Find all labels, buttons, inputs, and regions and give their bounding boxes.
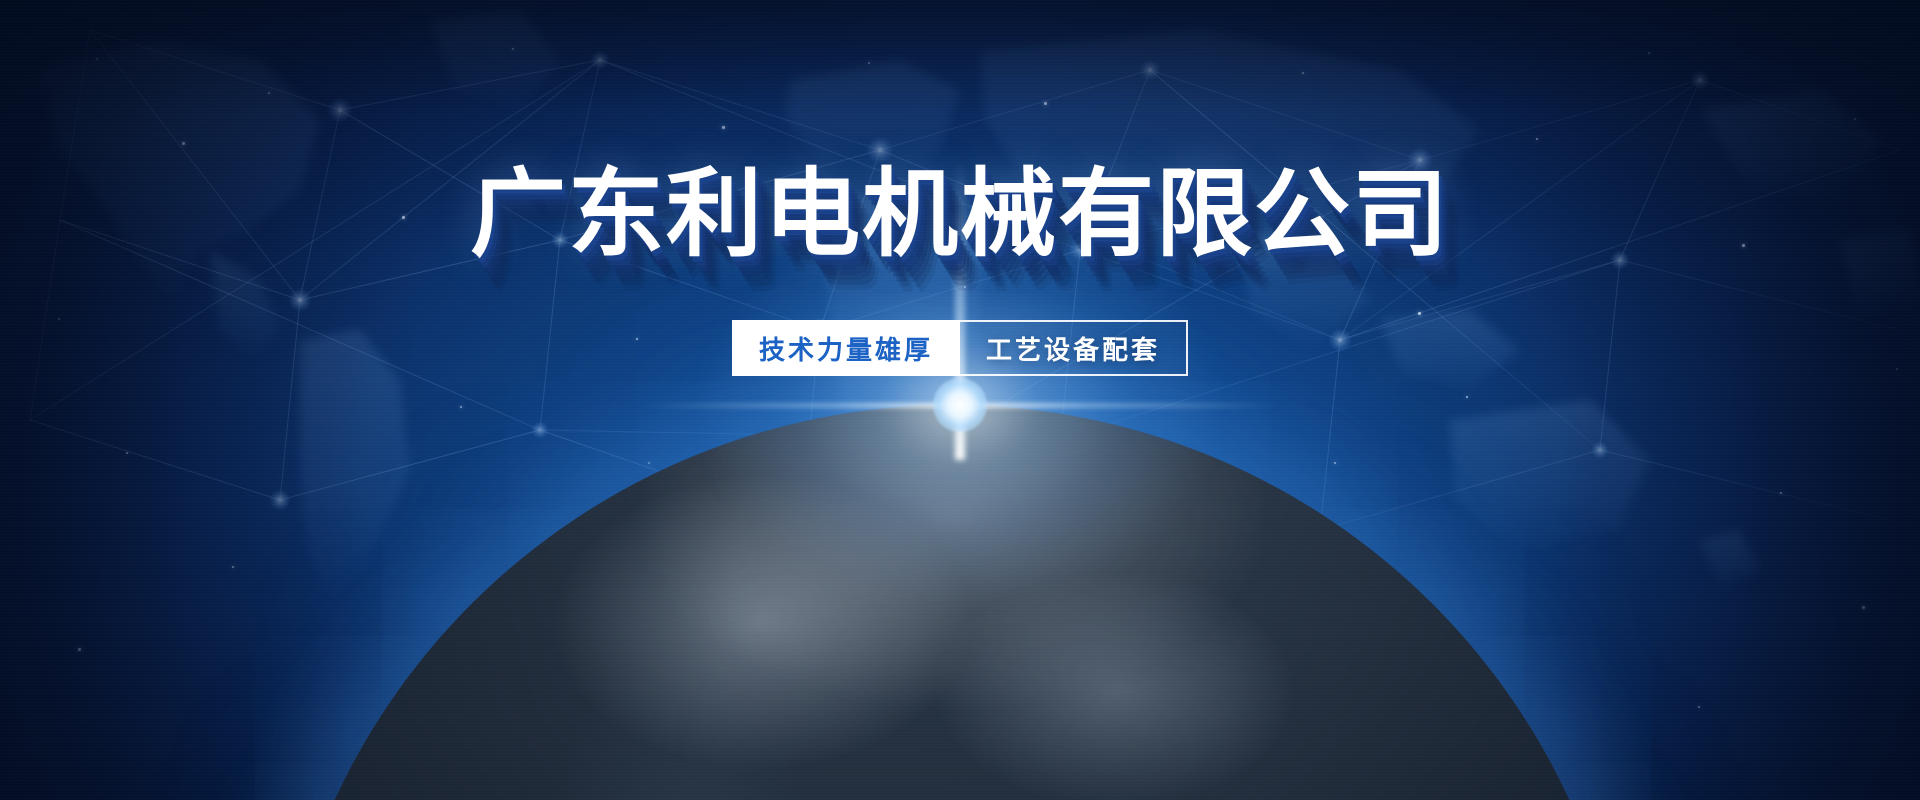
company-title: 广东利电机械有限公司 (470, 166, 1450, 262)
banner-content: 广东利电机械有限公司 技术力量雄厚 工艺设备配套 (0, 0, 1920, 800)
tagline-badge-primary: 技术力量雄厚 (732, 320, 960, 376)
tagline-badge-secondary: 工艺设备配套 (960, 320, 1188, 376)
hero-banner: 广东利电机械有限公司 技术力量雄厚 工艺设备配套 (0, 0, 1920, 800)
tagline-row: 技术力量雄厚 工艺设备配套 (732, 320, 1188, 376)
